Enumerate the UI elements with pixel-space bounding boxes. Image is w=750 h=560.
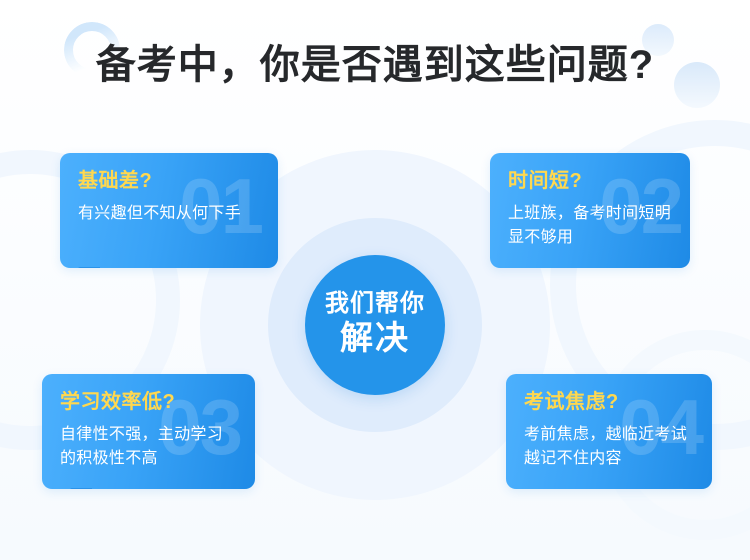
page-title: 备考中，你是否遇到这些问题?	[0, 40, 750, 90]
card-3-heading: 学习效率低?	[60, 390, 237, 414]
card-3-bubble-tail-icon	[70, 488, 92, 489]
card-1-bubble-tail-icon	[78, 267, 100, 268]
promo-banner: 备考中，你是否遇到这些问题? 我们帮你 解决 01 基础差? 有兴趣但不知从何下…	[0, 0, 750, 560]
problem-card-2[interactable]: 02 时间短? 上班族，备考时间短明显不够用	[490, 153, 690, 268]
problem-card-4[interactable]: 04 考试焦虑? 考前焦虑，越临近考试越记不住内容	[506, 374, 712, 489]
card-1-heading: 基础差?	[78, 169, 260, 193]
center-solution-badge: 我们帮你 解决	[305, 255, 445, 395]
center-badge-line-2: 解决	[340, 321, 410, 359]
center-badge-line-1: 我们帮你	[325, 291, 425, 317]
card-1-body: 有兴趣但不知从何下手	[78, 202, 260, 226]
card-2-heading: 时间短?	[508, 169, 672, 193]
card-2-bubble-tail-icon	[650, 267, 672, 268]
card-4-body: 考前焦虑，越临近考试越记不住内容	[524, 423, 694, 471]
card-4-bubble-tail-icon	[662, 488, 684, 489]
problem-card-1[interactable]: 01 基础差? 有兴趣但不知从何下手	[60, 153, 278, 268]
card-4-heading: 考试焦虑?	[524, 390, 694, 414]
problem-card-3[interactable]: 03 学习效率低? 自律性不强，主动学习的积极性不高	[42, 374, 255, 489]
card-3-body: 自律性不强，主动学习的积极性不高	[60, 423, 237, 471]
card-2-body: 上班族，备考时间短明显不够用	[508, 202, 672, 250]
